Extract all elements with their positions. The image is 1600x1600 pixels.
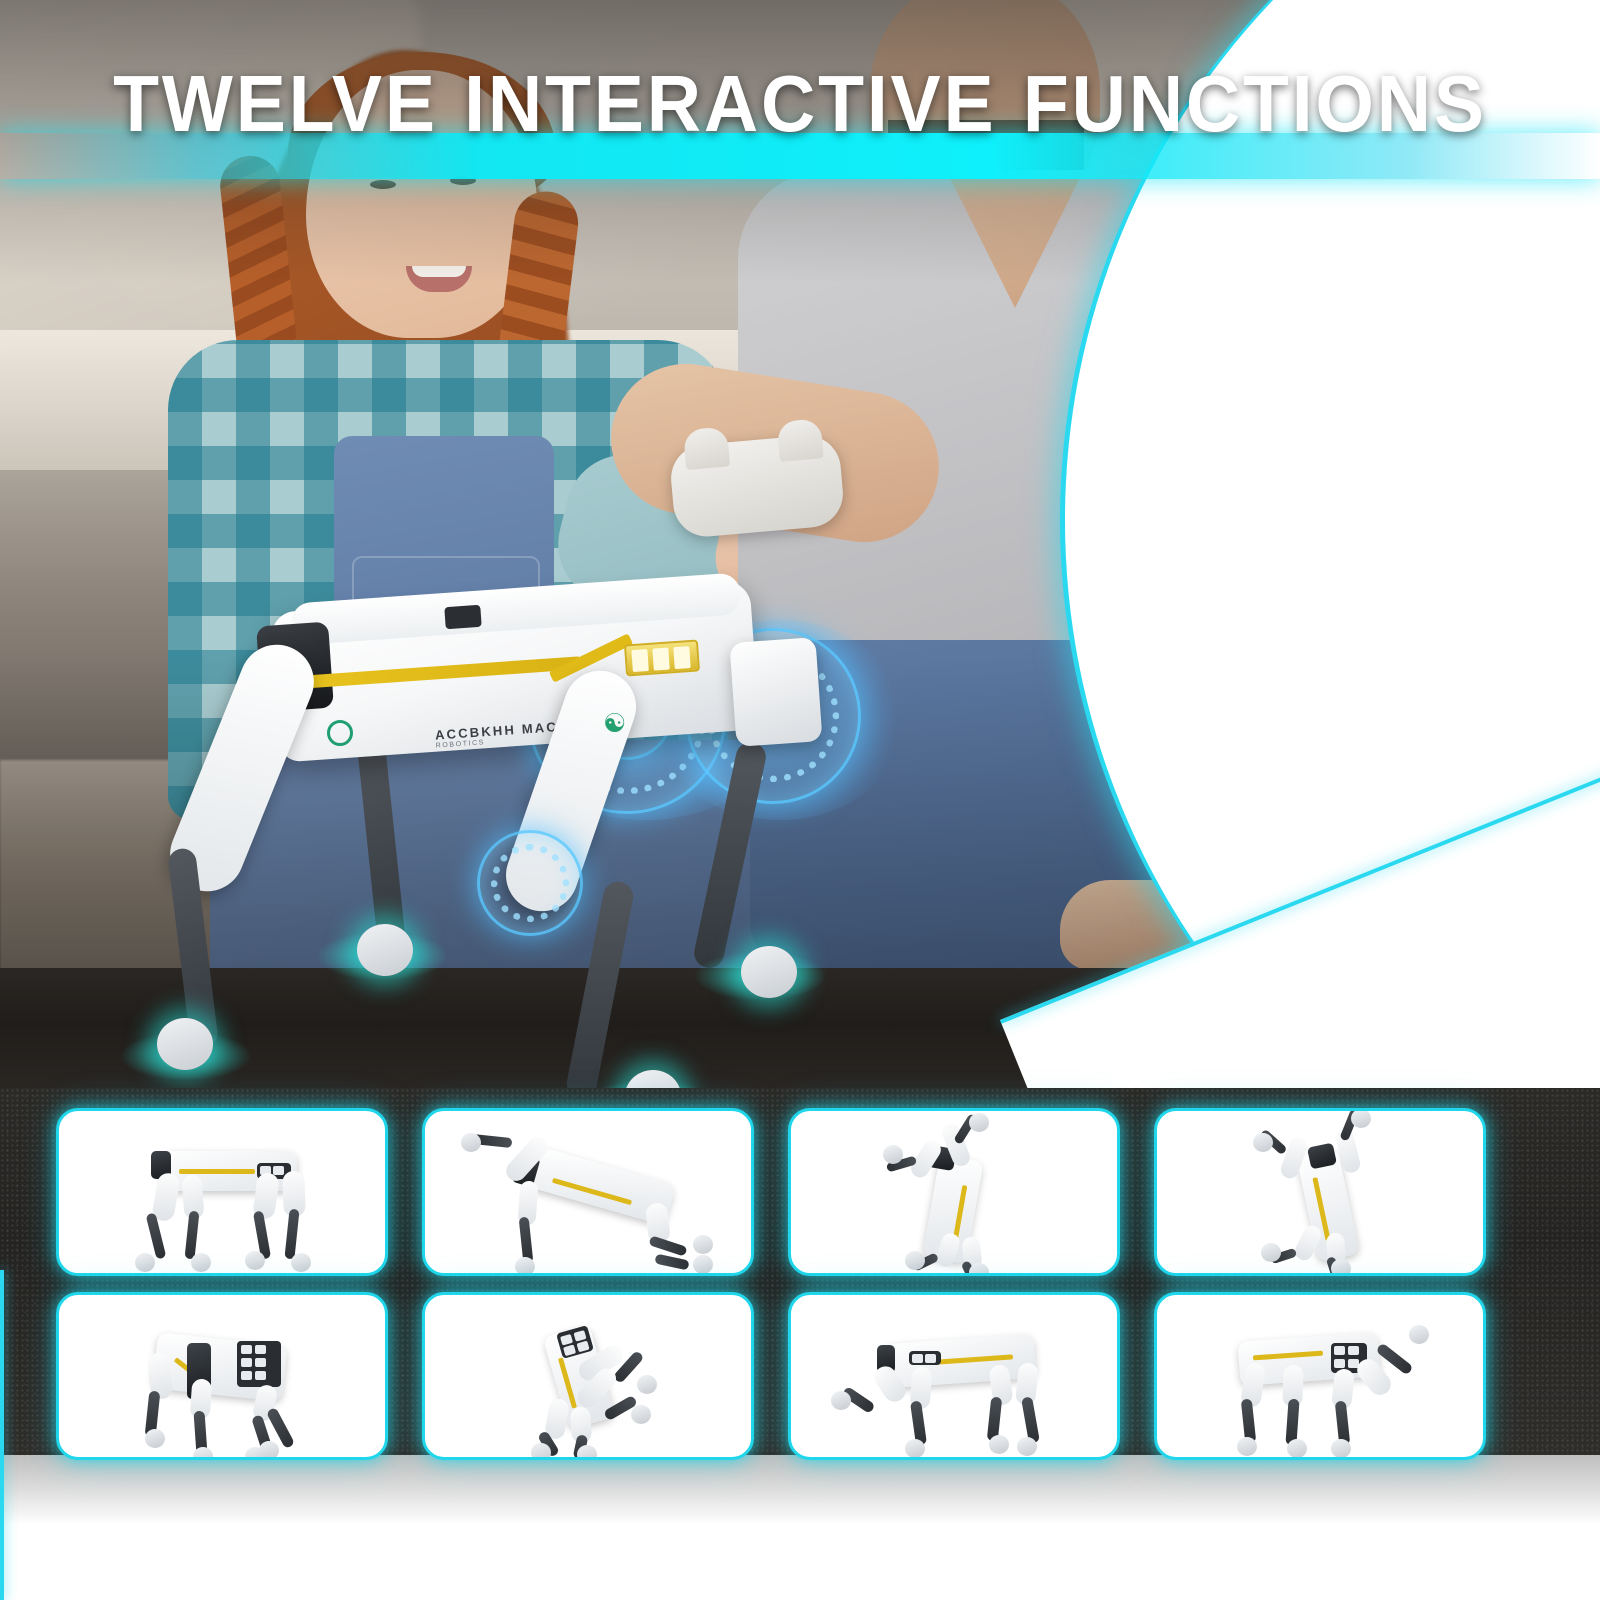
gallery-thumbnail-standing[interactable]: Stand — [56, 1108, 388, 1276]
gallery-thumbnail-walk[interactable]: Walk — [788, 1292, 1120, 1460]
gallery-row: Stand — [56, 1108, 1522, 1276]
robot-paw — [157, 1018, 213, 1070]
robot-power-indicator-icon — [327, 720, 353, 746]
robot-rear-module — [729, 637, 822, 747]
title-word-2: INTERACTIVE — [464, 59, 996, 148]
gallery-thumbnail-backflip[interactable]: Backflip — [1154, 1108, 1486, 1276]
robot-leg-rear-left-lower — [356, 729, 407, 951]
left-accent-edge — [0, 1270, 4, 1600]
robot-paw — [357, 924, 413, 976]
gallery-thumbnail-kick[interactable]: Kick — [1154, 1292, 1486, 1460]
signal-icon: ☯ — [603, 708, 626, 739]
robot-sensor-icon — [444, 605, 481, 629]
title-word-3: FUNCTIONS — [1023, 59, 1487, 148]
gallery-thumbnail-rear-up[interactable]: Rear Up — [422, 1292, 754, 1460]
robot-dog: ACCBKHH MACHINE ROBOTICS ☯ — [95, 580, 855, 1090]
robot-paw — [625, 1070, 681, 1090]
gallery-thumbnail-jump[interactable]: Jump — [788, 1108, 1120, 1276]
robot-paw — [741, 946, 797, 998]
title-word-1: TWELVE — [113, 59, 438, 148]
function-gallery: Stand — [56, 1108, 1522, 1476]
gallery-row: Crouch — [56, 1292, 1522, 1460]
gallery-thumbnail-crouch[interactable]: Crouch — [56, 1292, 388, 1460]
product-marketing-image: ACCBKHH MACHINE ROBOTICS ☯ TWELVEINTERAC… — [0, 0, 1600, 1600]
page-title: TWELVEINTERACTIVEFUNCTIONS — [48, 58, 1552, 150]
hud-ring-knee-dashed — [491, 844, 569, 922]
gallery-thumbnail-stretch[interactable]: Stretch — [422, 1108, 754, 1276]
robot-indicator-panel — [624, 639, 700, 676]
